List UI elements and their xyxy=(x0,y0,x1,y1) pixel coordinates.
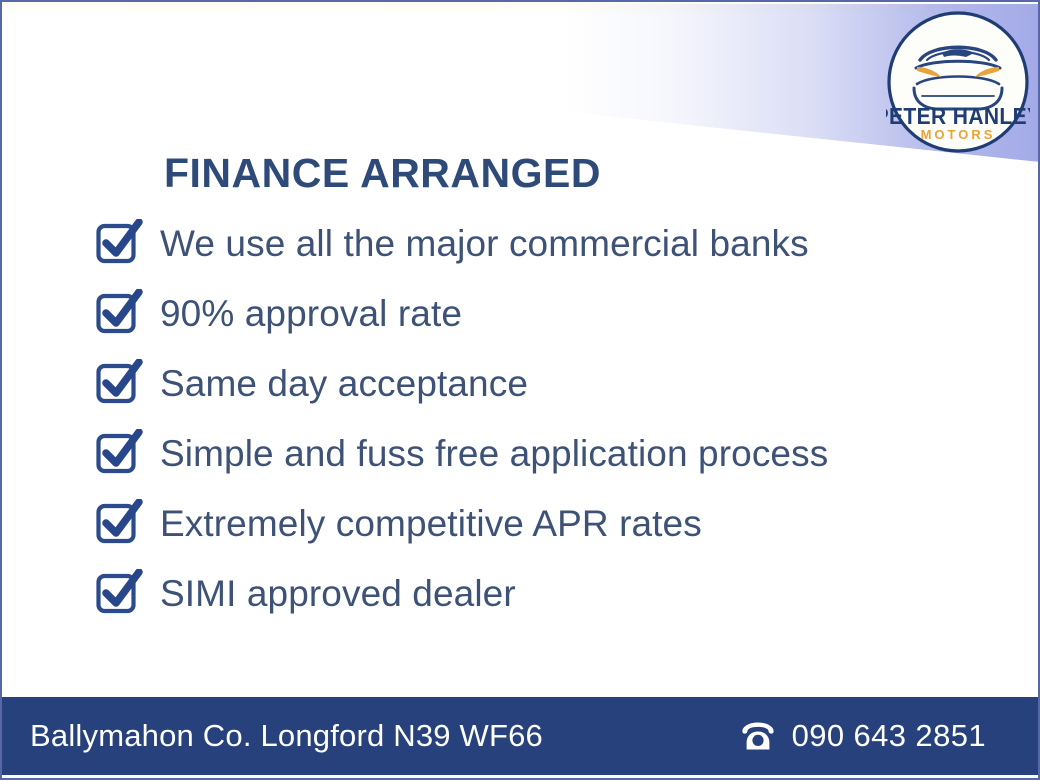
dealer-address: Ballymahon Co. Longford N39 WF66 xyxy=(30,718,543,754)
list-item-label: 90% approval rate xyxy=(160,293,462,335)
checkbox-checked-icon xyxy=(94,219,146,269)
page-title: FINANCE ARRANGED xyxy=(164,150,601,197)
list-item-label: Simple and fuss free application process xyxy=(160,433,828,475)
list-item: SIMI approved dealer xyxy=(94,559,994,629)
list-item-label: SIMI approved dealer xyxy=(160,573,516,615)
checkbox-checked-icon xyxy=(94,289,146,339)
contact-footer-bar: Ballymahon Co. Longford N39 WF66 090 643… xyxy=(2,697,1038,775)
peter-hanley-motors-logo: PETER HANLEY MOTORS xyxy=(886,10,1030,154)
checkbox-checked-icon xyxy=(94,359,146,409)
checkbox-checked-icon xyxy=(94,499,146,549)
checkbox-checked-icon xyxy=(94,569,146,619)
logo-name-line1: PETER HANLEY xyxy=(886,103,1030,129)
list-item-label: Same day acceptance xyxy=(160,363,528,405)
list-item: Simple and fuss free application process xyxy=(94,419,994,489)
list-item-label: We use all the major commercial banks xyxy=(160,223,809,265)
logo-name-line2: MOTORS xyxy=(921,127,996,142)
list-item-label: Extremely competitive APR rates xyxy=(160,503,702,545)
checkbox-checked-icon xyxy=(94,429,146,479)
phone-contact[interactable]: 090 643 2851 xyxy=(740,718,1008,754)
list-item: Extremely competitive APR rates xyxy=(94,489,994,559)
benefits-checklist: We use all the major commercial banks 90… xyxy=(94,209,994,629)
list-item: Same day acceptance xyxy=(94,349,994,419)
telephone-icon xyxy=(740,721,776,751)
phone-number: 090 643 2851 xyxy=(792,718,986,754)
top-edge-wash xyxy=(2,2,1038,16)
advertisement-banner: PETER HANLEY MOTORS FINANCE ARRANGED We … xyxy=(0,0,1040,780)
list-item: 90% approval rate xyxy=(94,279,994,349)
list-item: We use all the major commercial banks xyxy=(94,209,994,279)
